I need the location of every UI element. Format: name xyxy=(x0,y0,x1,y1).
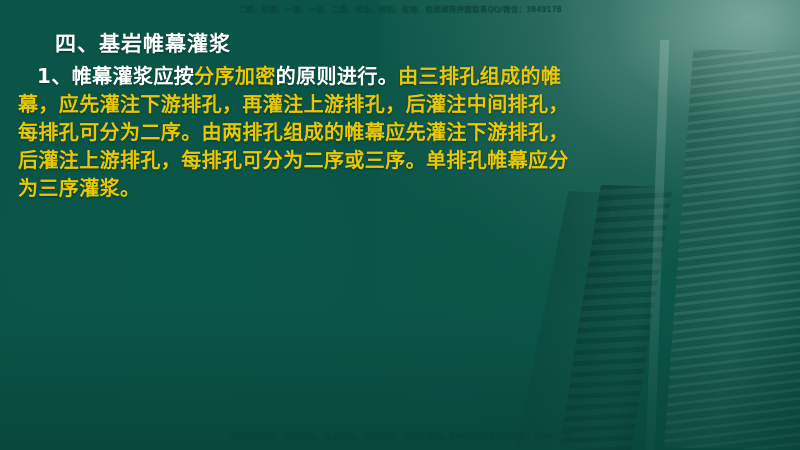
body-run-highlight: 分序加密 xyxy=(194,64,276,88)
photo-tower-edge xyxy=(646,40,669,450)
body-run-2: 的原则进行。 xyxy=(276,64,398,88)
body-run-1: 1、帷幕灌浆应按 xyxy=(37,64,194,88)
photo-highlight-glow xyxy=(540,0,800,210)
header-watermark: 二建、监理、一建、一造、二造、安全、消防、咨询、检测课程押题联系QQ/微信：38… xyxy=(0,4,800,15)
photo-tower-middle xyxy=(559,185,672,450)
body-text-block: 1、帷幕灌浆应按分序加密的原则进行。由三排孔组成的帷幕，应先灌注下游排孔，再灌注… xyxy=(18,62,578,202)
footer-watermark: 名师面授精华、夯全内训、考点串讲、习题模考、考前三页纸、绝密押题联系QQ/微信：… xyxy=(0,431,800,442)
page-title: 四、基岩帷幕灌浆 xyxy=(55,28,231,58)
photo-tower-main xyxy=(664,49,800,450)
photo-tower-far xyxy=(516,191,614,450)
slide-canvas: 二建、监理、一建、一造、二造、安全、消防、咨询、检测课程押题联系QQ/微信：38… xyxy=(0,0,800,450)
body-paragraph: 1、帷幕灌浆应按分序加密的原则进行。由三排孔组成的帷幕，应先灌注下游排孔，再灌注… xyxy=(18,62,578,202)
